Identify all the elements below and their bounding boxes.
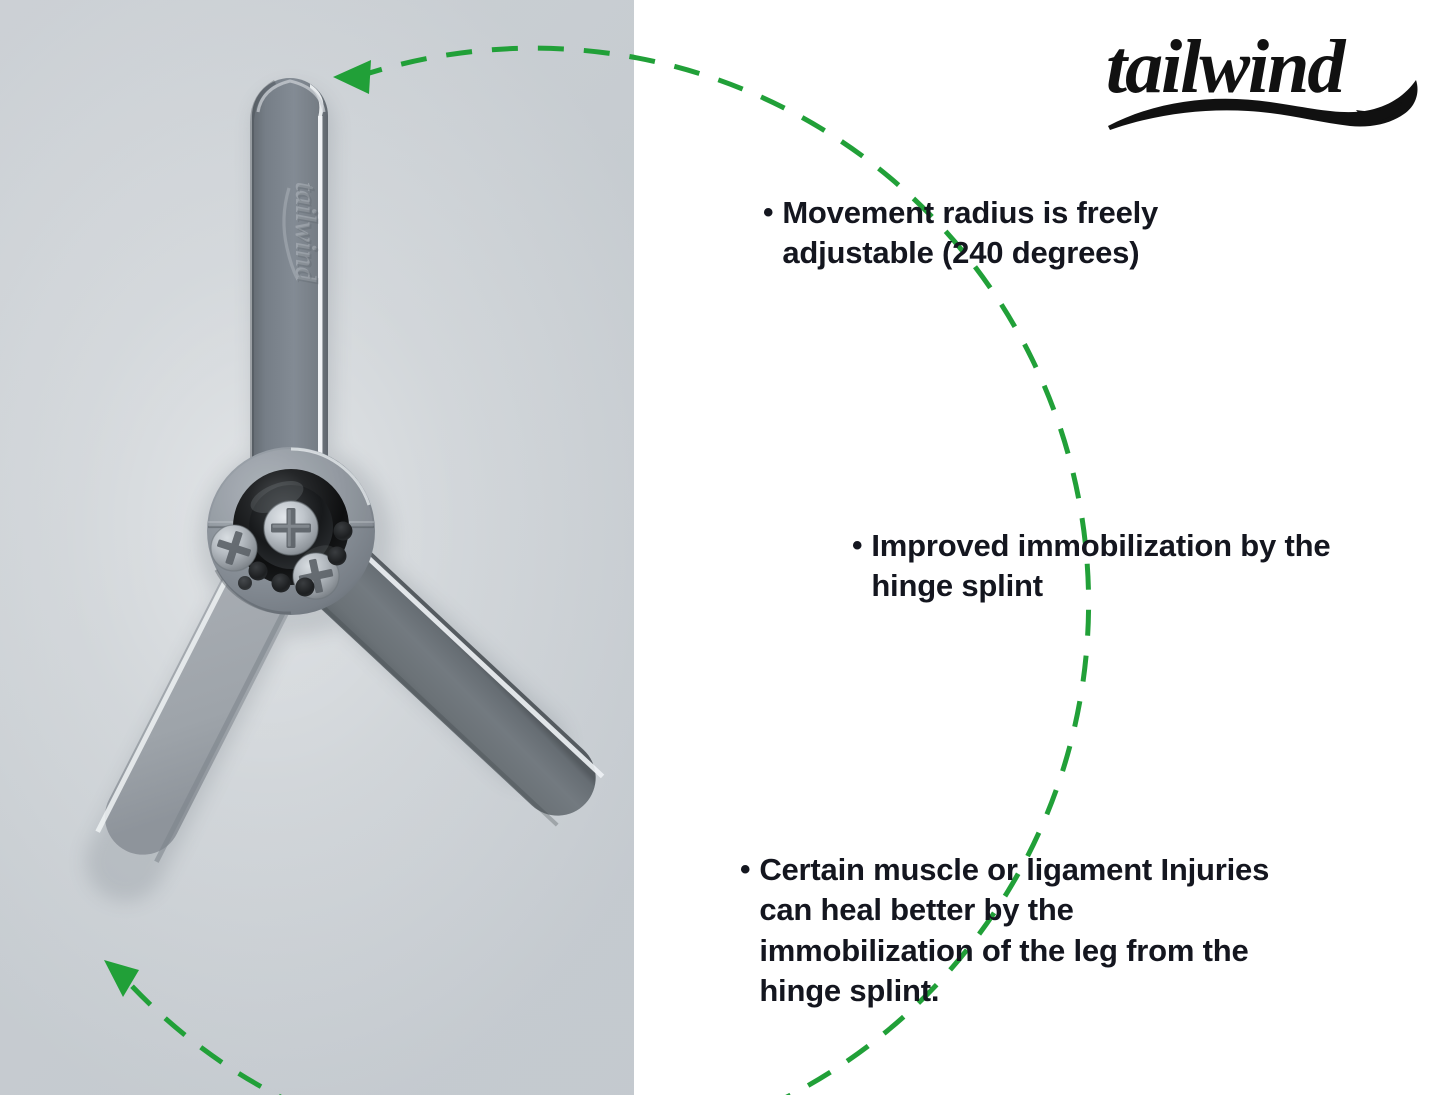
tailwind-logo-svg: tailwind: [1098, 14, 1428, 144]
left-phillips-screw: [211, 525, 257, 571]
hinge-assembly: [207, 447, 375, 615]
bullet-marker: •: [763, 193, 773, 232]
feature-bullet-2: • Improved immobilization by the hinge s…: [852, 526, 1332, 607]
product-image-panel: tailwind tailwind: [0, 0, 634, 1095]
svg-text:tailwind: tailwind: [291, 184, 324, 285]
logo-wordmark: tailwind: [1106, 25, 1346, 109]
feature-bullet-3-text: Certain muscle or ligament Injuries can …: [759, 850, 1285, 1011]
feature-bullet-3: • Certain muscle or ligament Injuries ca…: [740, 850, 1285, 1011]
tailwind-logo: tailwind: [1098, 14, 1428, 144]
feature-bullet-1: • Movement radius is freely adjustable (…: [763, 193, 1263, 274]
feature-bullet-1-text: Movement radius is freely adjustable (24…: [782, 193, 1263, 274]
feature-bullet-2-text: Improved immobilization by the hinge spl…: [871, 526, 1332, 607]
bullet-marker: •: [852, 526, 862, 565]
hinge-splint-illustration: tailwind tailwind: [0, 0, 634, 1095]
embossed-tailwind-shadow: tailwind: [291, 184, 324, 285]
center-phillips-screw: [264, 501, 318, 555]
product-feature-graphic: tailwind tailwind: [0, 0, 1445, 1095]
bullet-marker: •: [740, 850, 750, 889]
